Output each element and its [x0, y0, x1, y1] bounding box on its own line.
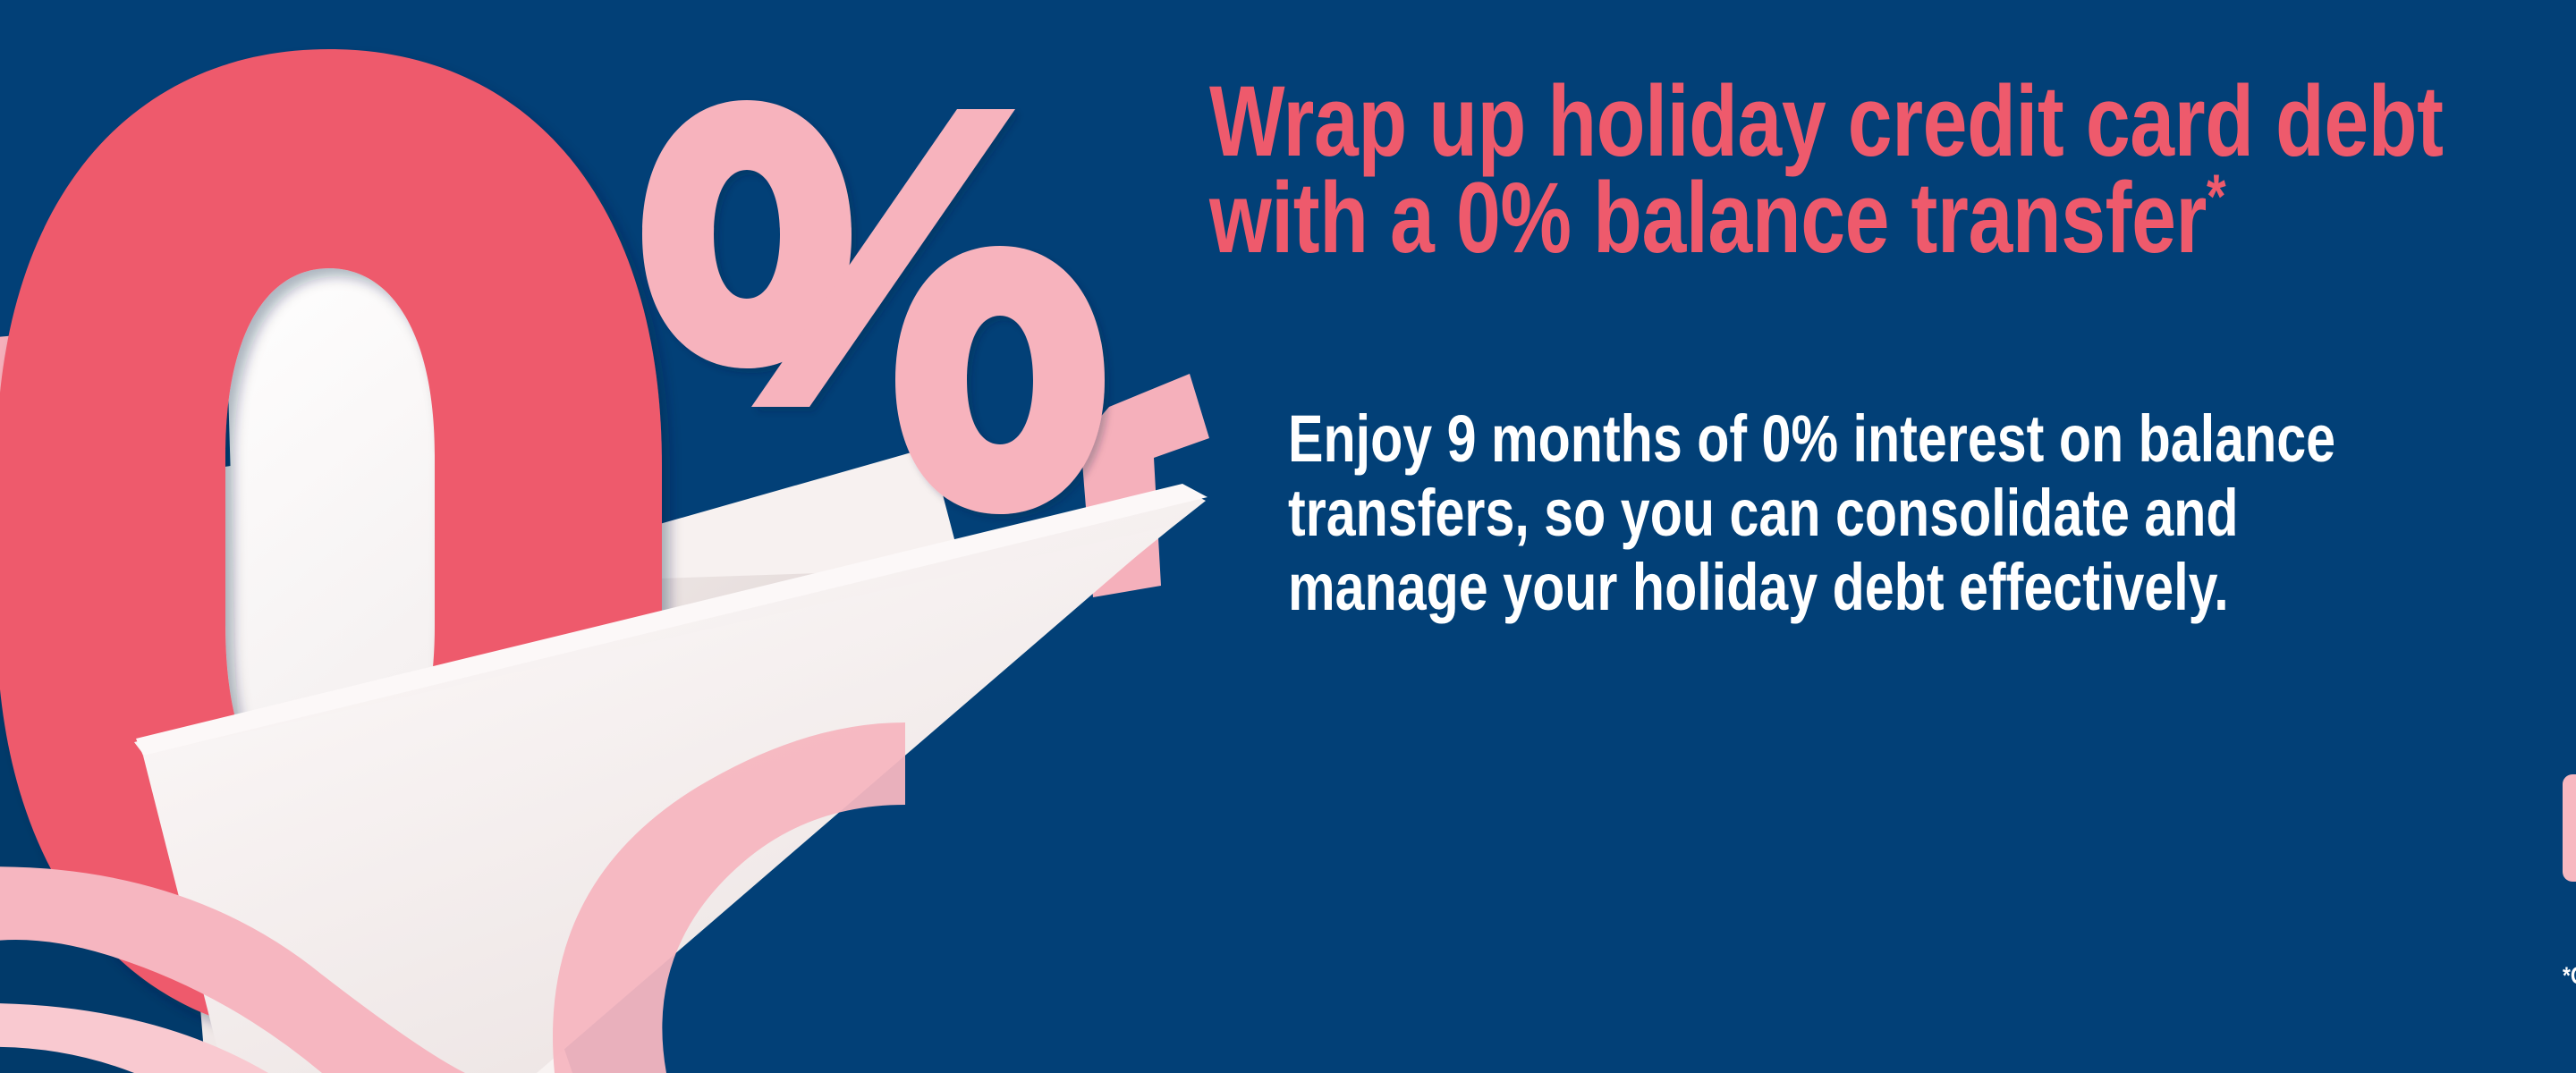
- headline-asterisk: *: [2207, 161, 2225, 231]
- subcopy-line-2: transfers, so you can consolidate and: [1288, 477, 2240, 551]
- subcopy: Enjoy 9 months of 0% interest on balance…: [1288, 402, 2240, 625]
- subcopy-line-3: manage your holiday debt effectively.: [1288, 551, 2240, 625]
- gift-box-illustration: [0, 0, 1306, 1073]
- headline-line-2-text: with a 0% balance transfer: [1209, 162, 2207, 274]
- disclaimer-text: *Offer terms & conditions apply.: [2563, 964, 2576, 988]
- headline-line-2: with a 0% balance transfer*: [1209, 170, 2211, 266]
- learn-more-button[interactable]: Learn more: [2563, 774, 2576, 882]
- page-title: Wrap up holiday credit card debt with a …: [1209, 73, 2211, 266]
- copy-block: Wrap up holiday credit card debt with a …: [1209, 0, 2506, 1073]
- headline-line-1: Wrap up holiday credit card debt: [1209, 73, 2211, 170]
- promo-banner: Wrap up holiday credit card debt with a …: [0, 0, 2576, 1073]
- subcopy-line-1: Enjoy 9 months of 0% interest on balance: [1288, 402, 2240, 477]
